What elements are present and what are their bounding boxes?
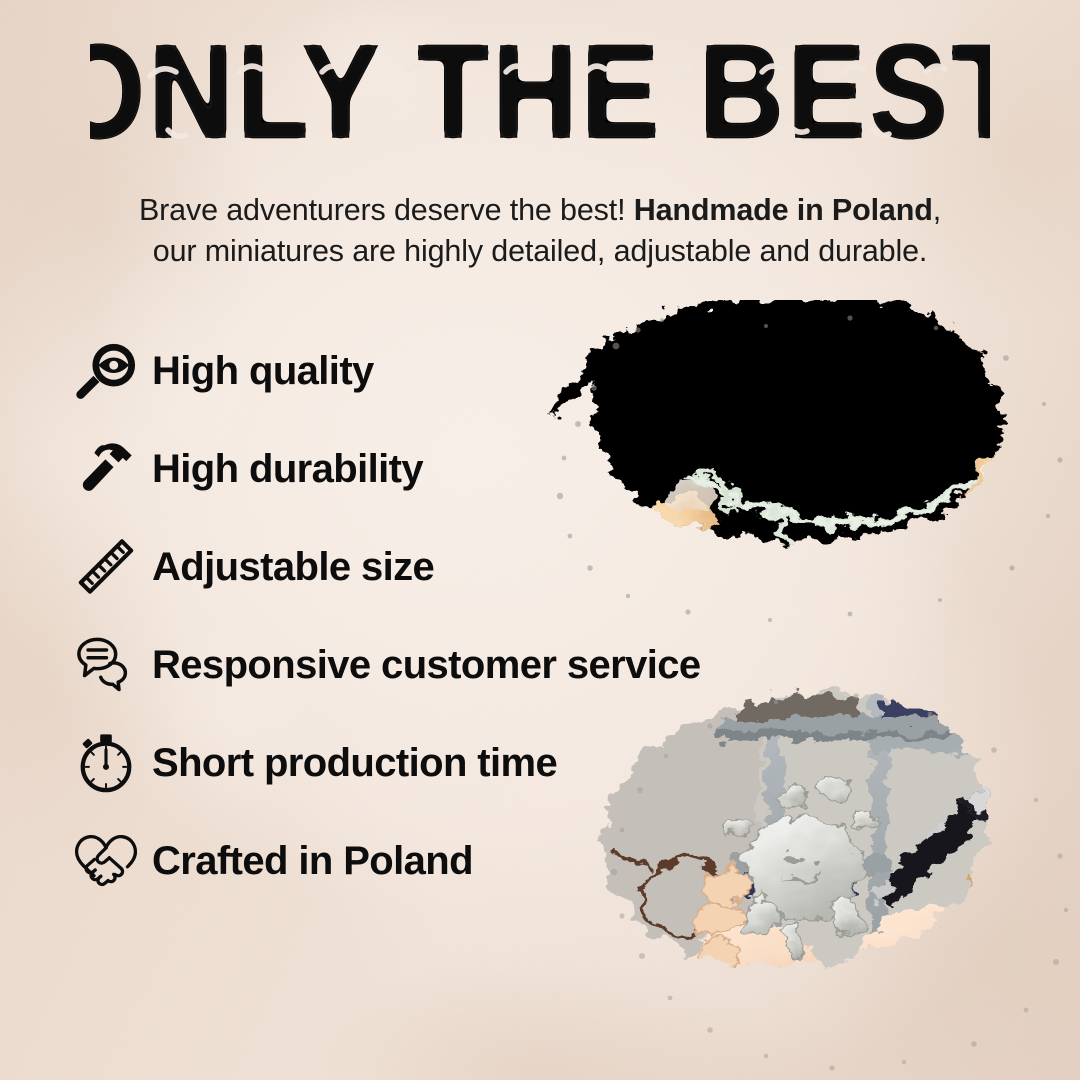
flexible-miniature-photo [520, 300, 1080, 630]
subtitle-line-2: our miniatures are highly detailed, adju… [153, 234, 928, 268]
page-title-text: ONLY THE BEST [90, 38, 990, 166]
subtitle-tail: , [933, 193, 941, 227]
handshake-heart-icon [60, 818, 152, 904]
feature-label: Adjustable size [152, 545, 434, 590]
page-title: ONLY THE BEST [0, 38, 1080, 168]
speech-bubbles-icon [60, 622, 152, 708]
hammer-icon [60, 426, 152, 512]
magnifier-eye-icon [60, 328, 152, 414]
subtitle: Brave adventurers deserve the best! Hand… [90, 190, 990, 271]
feature-label: Crafted in Poland [152, 839, 473, 884]
subtitle-emphasis: Handmade in Poland [634, 193, 933, 227]
workshop-crafting-photo [570, 680, 1080, 1080]
feature-label: Short production time [152, 741, 557, 786]
feature-label: High quality [152, 349, 374, 394]
promo-poster: ONLY THE BEST Brave adventurers dese [0, 0, 1080, 1080]
subtitle-lead: Brave adventurers deserve the best! [139, 193, 634, 227]
ruler-icon [60, 524, 152, 610]
stopwatch-icon [60, 720, 152, 806]
feature-label: High durability [152, 447, 423, 492]
